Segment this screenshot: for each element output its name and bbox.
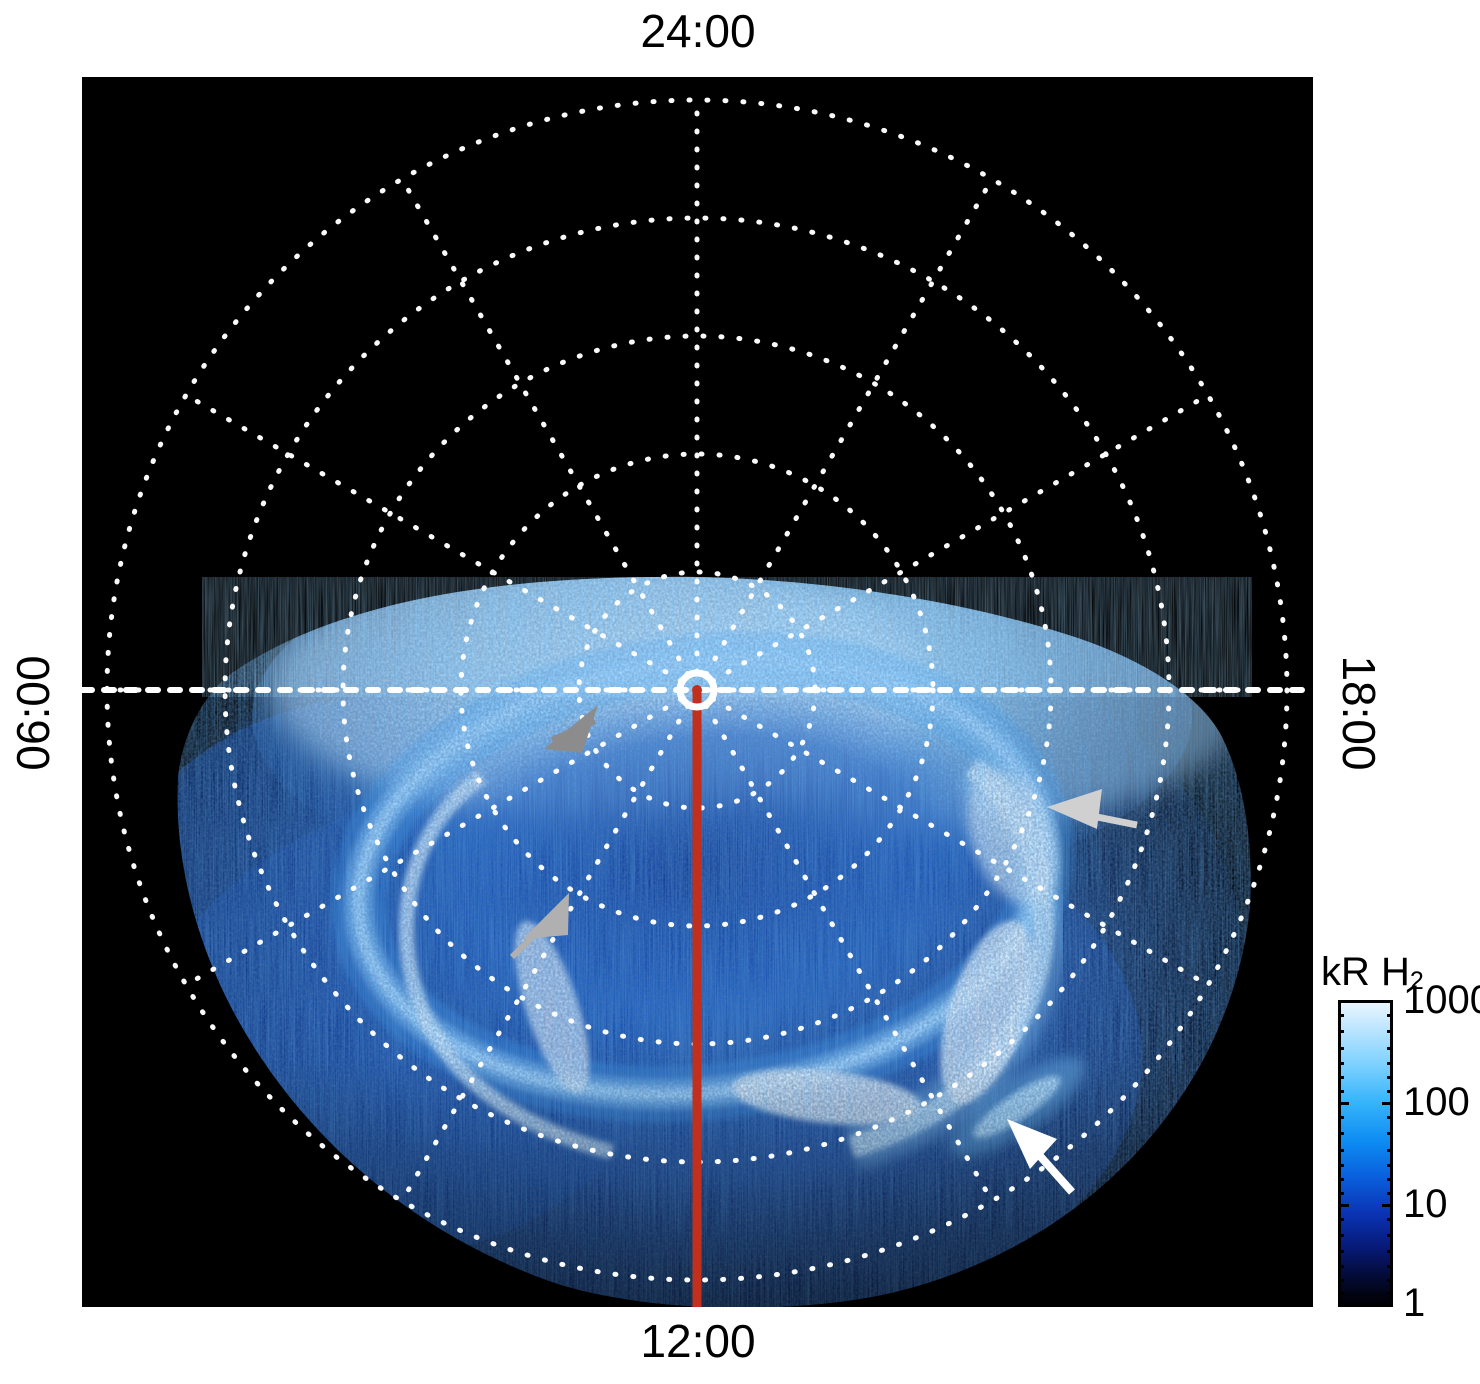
cbtick-minor	[1387, 1292, 1393, 1295]
colorbar-label-1000: 1000	[1403, 980, 1480, 1020]
cbtick-minor	[1387, 1250, 1393, 1253]
cbtick-minor	[1338, 1234, 1344, 1237]
cbtick-minor	[1338, 1076, 1344, 1079]
cbtick-minor	[1387, 1047, 1393, 1050]
cbtick-major-10-l	[1338, 1204, 1349, 1207]
axis-label-right: 18:00	[1336, 618, 1382, 808]
cbtick-major-100-l	[1338, 1102, 1349, 1105]
cbtick-minor	[1338, 1279, 1344, 1282]
cbtick-minor	[1338, 1132, 1344, 1135]
cbtick-major-1000-l	[1338, 1000, 1349, 1003]
cbtick-minor	[1338, 1030, 1344, 1033]
cbtick-minor	[1387, 1178, 1393, 1181]
cbtick-minor	[1387, 1234, 1393, 1237]
cbtick-minor	[1387, 1265, 1393, 1268]
cbtick-minor	[1387, 1149, 1393, 1152]
cbtick-minor	[1387, 1014, 1393, 1017]
cbtick-minor	[1387, 1062, 1393, 1065]
axis-label-bottom: 12:00	[0, 1318, 1396, 1364]
cbtick-major-1000-r	[1382, 1000, 1393, 1003]
cbtick-major-10-r	[1382, 1204, 1393, 1207]
cbtick-minor	[1338, 1192, 1344, 1195]
aurora-image	[82, 77, 1313, 1307]
cbtick-minor	[1338, 1116, 1344, 1119]
cbtick-minor	[1338, 1250, 1344, 1253]
cbtick-minor	[1338, 1062, 1344, 1065]
cbtick-minor	[1387, 1164, 1393, 1167]
cbtick-minor	[1338, 1090, 1344, 1093]
colorbar-label-1: 1	[1403, 1283, 1425, 1323]
cbtick-minor	[1387, 1218, 1393, 1221]
colorbar-ticks	[1338, 1000, 1393, 1307]
polar-plot-area	[82, 77, 1313, 1307]
cbtick-minor	[1338, 1164, 1344, 1167]
colorbar: kR H2	[1317, 950, 1480, 1330]
axis-label-top: 24:00	[0, 8, 1396, 54]
axis-label-left: 06:00	[10, 618, 56, 808]
cbtick-minor	[1387, 1030, 1393, 1033]
cbtick-minor	[1387, 1192, 1393, 1195]
cbtick-minor	[1387, 1116, 1393, 1119]
cbtick-major-1-l	[1338, 1304, 1349, 1307]
cbtick-minor	[1338, 1218, 1344, 1221]
cbtick-minor	[1338, 1014, 1344, 1017]
cbtick-major-100-r	[1382, 1102, 1393, 1105]
cbtick-major-1-r	[1382, 1304, 1393, 1307]
colorbar-label-10: 10	[1403, 1184, 1448, 1224]
colorbar-title-text: kR H	[1321, 950, 1410, 994]
cbtick-minor	[1338, 1292, 1344, 1295]
cbtick-minor	[1387, 1090, 1393, 1093]
cbtick-minor	[1387, 1132, 1393, 1135]
cbtick-minor	[1338, 1265, 1344, 1268]
cbtick-minor	[1338, 1178, 1344, 1181]
cbtick-minor	[1387, 1279, 1393, 1282]
figure-root: 24:00 12:00 06:00 18:00	[0, 0, 1480, 1384]
colorbar-label-100: 100	[1403, 1082, 1470, 1122]
cbtick-minor	[1387, 1076, 1393, 1079]
cbtick-minor	[1338, 1047, 1344, 1050]
cbtick-minor	[1338, 1149, 1344, 1152]
